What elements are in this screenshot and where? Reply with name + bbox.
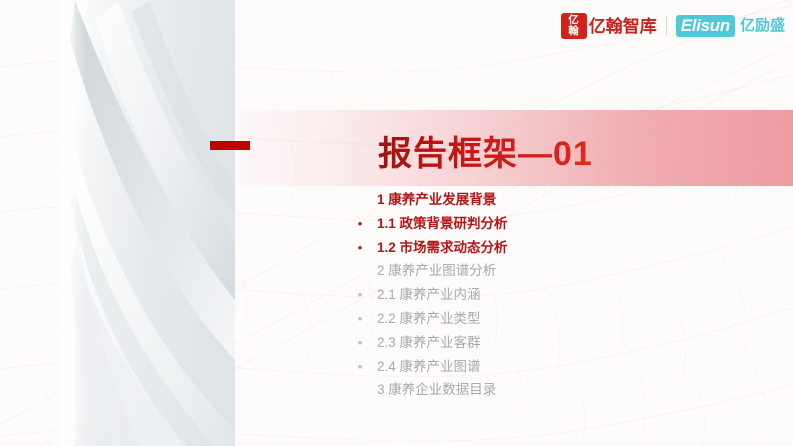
agenda-bullet-icon: • [352,217,368,230]
agenda-item[interactable]: •2.3 康养产业客群 [352,336,682,360]
logo-divider [666,16,667,36]
agenda-item[interactable]: •1.2 市场需求动态分析 [352,241,682,265]
yihan-badge-bottom: 翰 [569,26,579,36]
agenda-list: 1 康养产业发展背景•1.1 政策背景研判分析•1.2 市场需求动态分析2 康养… [352,193,682,407]
agenda-bullet-icon: • [352,288,368,301]
agenda-bullet-icon: • [352,241,368,254]
agenda-item-label: 2.1 康养产业内涵 [368,288,481,302]
elisun-en-wordmark: Elisun [676,15,735,38]
yihan-badge-top: 亿 [569,15,579,25]
agenda-item[interactable]: 2 康养产业图谱分析 [352,264,682,288]
agenda-item-label: 3 康养企业数据目录 [368,383,496,397]
agenda-item[interactable]: •2.2 康养产业类型 [352,312,682,336]
agenda-item[interactable]: •2.1 康养产业内涵 [352,288,682,312]
agenda-item-label: 2.2 康养产业类型 [368,312,481,326]
agenda-item-label: 1 康养产业发展背景 [368,193,496,207]
agenda-item-label: 1.2 市场需求动态分析 [368,241,508,255]
slide-canvas: 亿 翰 亿翰智库 Elisun 亿励盛 报告框架—01 1 康养产业发展背景•1… [0,0,793,446]
agenda-item-label: 1.1 政策背景研判分析 [368,217,508,231]
brand-logo-bar: 亿 翰 亿翰智库 Elisun 亿励盛 [561,11,785,41]
agenda-item[interactable]: •2.4 康养产业图谱 [352,360,682,384]
agenda-bullet-icon: • [352,360,368,373]
yihan-wordmark: 亿翰智库 [589,18,657,35]
agenda-item[interactable]: 3 康养企业数据目录 [352,383,682,407]
decorative-ribbon-panel [0,0,235,446]
yihan-badge-icon: 亿 翰 [561,13,587,39]
agenda-item[interactable]: •1.1 政策背景研判分析 [352,217,682,241]
agenda-bullet-icon: • [352,336,368,349]
agenda-item-label: 2 康养产业图谱分析 [368,264,496,278]
agenda-item-label: 2.3 康养产业客群 [368,336,481,350]
agenda-item-label: 2.4 康养产业图谱 [368,360,481,374]
elisun-logo: Elisun 亿励盛 [676,15,785,38]
elisun-cn-wordmark: 亿励盛 [740,18,785,33]
agenda-item[interactable]: 1 康养产业发展背景 [352,193,682,217]
page-title: 报告框架—01 [378,126,593,175]
agenda-bullet-icon: • [352,312,368,325]
yihan-logo: 亿 翰 亿翰智库 [561,13,657,39]
red-dash-accent [210,141,250,150]
